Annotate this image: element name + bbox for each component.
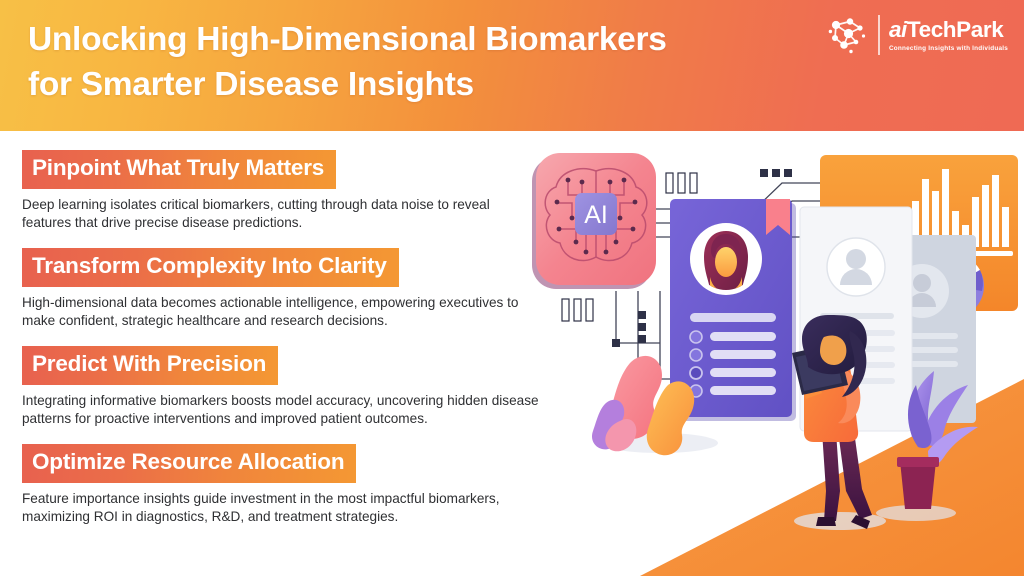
section-predict: Predict With Precision Integrating infor…	[22, 346, 540, 429]
section-heading: Predict With Precision	[22, 346, 278, 385]
page-title-line-1: Unlocking High-Dimensional Biomarkers	[28, 18, 818, 63]
logo-wordmark-ai: ai	[889, 17, 907, 42]
logo-wordmark-rest: TechPark	[907, 17, 1003, 42]
ai-chip: AI	[575, 193, 617, 235]
page-title-line-2: for Smarter Disease Insights	[28, 63, 818, 108]
section-heading: Optimize Resource Allocation	[22, 444, 356, 483]
infographic-page: Unlocking High-Dimensional Biomarkers fo…	[0, 0, 1024, 576]
section-body: High-dimensional data becomes actionable…	[22, 294, 540, 332]
section-body: Feature importance insights guide invest…	[22, 490, 540, 528]
illustration-svg: AI	[520, 131, 1024, 576]
section-optimize: Optimize Resource Allocation Feature imp…	[22, 444, 540, 527]
section-body: Integrating informative biomarkers boost…	[22, 392, 540, 430]
logo-wordmark: aiTechPark	[889, 18, 1008, 42]
logo-text-block: aiTechPark Connecting Insights with Indi…	[889, 18, 1008, 52]
section-heading: Transform Complexity Into Clarity	[22, 248, 399, 287]
logo-divider	[878, 15, 880, 55]
illustration: AI	[520, 131, 1024, 576]
logo-tagline: Connecting Insights with Individuals	[889, 45, 1008, 52]
content-column: Pinpoint What Truly Matters Deep learnin…	[0, 131, 540, 576]
section-body: Deep learning isolates critical biomarke…	[22, 196, 540, 234]
section-transform: Transform Complexity Into Clarity High-d…	[22, 248, 540, 331]
ai-chip-label: AI	[584, 201, 608, 229]
section-heading: Pinpoint What Truly Matters	[22, 150, 336, 189]
aitechpark-molecule-icon	[827, 14, 869, 56]
ai-brain-panel: AI	[532, 153, 656, 289]
page-title: Unlocking High-Dimensional Biomarkers fo…	[28, 18, 818, 107]
section-pinpoint: Pinpoint What Truly Matters Deep learnin…	[22, 150, 540, 233]
header-banner: Unlocking High-Dimensional Biomarkers fo…	[0, 0, 1024, 131]
brand-logo[interactable]: aiTechPark Connecting Insights with Indi…	[827, 11, 1008, 59]
